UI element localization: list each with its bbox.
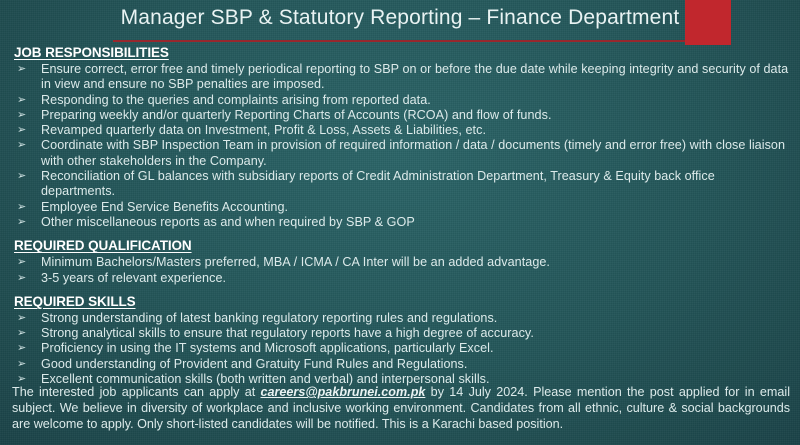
bullet-arrow-icon: ➢ xyxy=(17,62,26,77)
list-item: ➢Employee End Service Benefits Accountin… xyxy=(0,200,800,215)
list-item: ➢Strong analytical skills to ensure that… xyxy=(0,326,800,341)
list-item-text: Coordinate with SBP Inspection Team in p… xyxy=(41,138,790,169)
accent-red-block xyxy=(685,0,731,45)
content-body: JOB RESPONSIBILITIES ➢Ensure correct, er… xyxy=(0,44,800,387)
list-item-text: Ensure correct, error free and timely pe… xyxy=(41,62,790,93)
bullet-arrow-icon: ➢ xyxy=(17,341,26,356)
list-item: ➢Proficiency in using the IT systems and… xyxy=(0,341,800,356)
list-item-text: Strong understanding of latest banking r… xyxy=(41,311,790,326)
list-item: ➢3-5 years of relevant experience. xyxy=(0,271,800,286)
list-item: ➢Strong understanding of latest banking … xyxy=(0,311,800,326)
list-item-text: Preparing weekly and/or quarterly Report… xyxy=(41,108,790,123)
list-item: ➢Ensure correct, error free and timely p… xyxy=(0,62,800,93)
list-item: ➢Good understanding of Provident and Gra… xyxy=(0,357,800,372)
page-title: Manager SBP & Statutory Reporting – Fina… xyxy=(0,6,800,30)
title-divider xyxy=(113,40,698,42)
list-item-text: Responding to the queries and complaints… xyxy=(41,93,790,108)
list-item: ➢Revamped quarterly data on Investment, … xyxy=(0,123,800,138)
bullet-arrow-icon: ➢ xyxy=(17,200,26,215)
bullet-arrow-icon: ➢ xyxy=(17,123,26,138)
bullet-list-job-responsibilities: ➢Ensure correct, error free and timely p… xyxy=(0,62,800,230)
list-item: ➢Coordinate with SBP Inspection Team in … xyxy=(0,138,800,169)
list-item-text: Minimum Bachelors/Masters preferred, MBA… xyxy=(41,255,790,270)
bullet-arrow-icon: ➢ xyxy=(17,271,26,286)
list-item-text: Proficiency in using the IT systems and … xyxy=(41,341,790,356)
list-item: ➢Other miscellaneous reports as and when… xyxy=(0,215,800,230)
footer-text-before-email: The interested job applicants can apply … xyxy=(12,385,261,399)
list-item-text: 3-5 years of relevant experience. xyxy=(41,271,790,286)
list-item: ➢Minimum Bachelors/Masters preferred, MB… xyxy=(0,255,800,270)
list-item-text: Reconciliation of GL balances with subsi… xyxy=(41,169,790,200)
list-item: ➢Responding to the queries and complaint… xyxy=(0,93,800,108)
bullet-list-required-skills: ➢Strong understanding of latest banking … xyxy=(0,311,800,387)
list-item-text: Other miscellaneous reports as and when … xyxy=(41,215,790,230)
list-item-text: Employee End Service Benefits Accounting… xyxy=(41,200,790,215)
section-heading-required-skills: REQUIRED SKILLS xyxy=(0,293,800,310)
bullet-arrow-icon: ➢ xyxy=(17,108,26,123)
apply-email-link[interactable]: careers@pakbrunei.com.pk xyxy=(261,385,426,399)
bullet-list-required-qualification: ➢Minimum Bachelors/Masters preferred, MB… xyxy=(0,255,800,286)
bullet-arrow-icon: ➢ xyxy=(17,93,26,108)
list-item: ➢Reconciliation of GL balances with subs… xyxy=(0,169,800,200)
job-posting-slide: Manager SBP & Statutory Reporting – Fina… xyxy=(0,0,800,445)
bullet-arrow-icon: ➢ xyxy=(17,326,26,341)
list-item-text: Strong analytical skills to ensure that … xyxy=(41,326,790,341)
bullet-arrow-icon: ➢ xyxy=(17,138,26,153)
bullet-arrow-icon: ➢ xyxy=(17,169,26,184)
list-item-text: Revamped quarterly data on Investment, P… xyxy=(41,123,790,138)
bullet-arrow-icon: ➢ xyxy=(17,311,26,326)
bullet-arrow-icon: ➢ xyxy=(17,255,26,270)
application-instructions: The interested job applicants can apply … xyxy=(12,384,790,432)
section-heading-required-qualification: REQUIRED QUALIFICATION xyxy=(0,237,800,254)
list-item: ➢Preparing weekly and/or quarterly Repor… xyxy=(0,108,800,123)
bullet-arrow-icon: ➢ xyxy=(17,357,26,372)
list-item-text: Good understanding of Provident and Grat… xyxy=(41,357,790,372)
section-heading-job-responsibilities: JOB RESPONSIBILITIES xyxy=(0,44,800,61)
bullet-arrow-icon: ➢ xyxy=(17,215,26,230)
